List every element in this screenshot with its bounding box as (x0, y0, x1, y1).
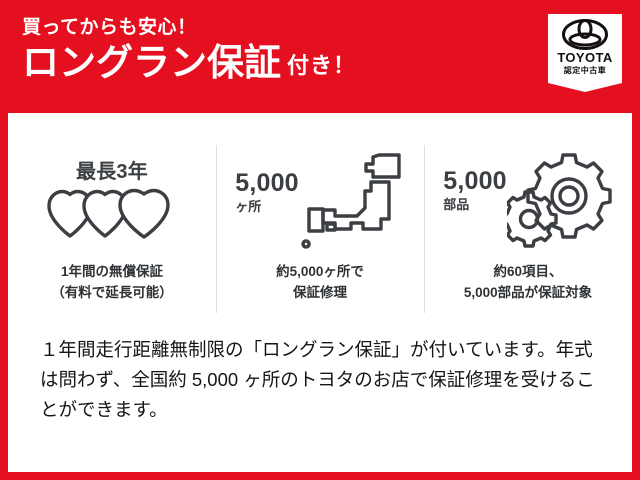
feature-caption-3: 約60項目、 5,000部品が保証対象 (464, 262, 592, 304)
feature-caption-line2-3: 5,000部品が保証対象 (464, 283, 592, 304)
two-gears-icon (507, 153, 613, 249)
feature-column-warranty-years: 最長3年 1年間の無償保証 （有料で延長可能） (8, 140, 216, 320)
feature-caption-line1-1: 1年間の無償保証 (51, 262, 173, 283)
headline-suffix-text: 付き！ (287, 53, 356, 78)
toyota-ellipse-emblem-icon (562, 19, 608, 50)
feature-caption-line1-2: 約5,000ヶ所で (276, 262, 364, 283)
feature-caption-line2-1: （有料で延長可能） (51, 283, 173, 304)
feature-icon-area-1: 最長3年 (8, 140, 216, 262)
header-text-block: 買ってからも安心！ ロングラン保証付き！ (22, 18, 356, 81)
frame-border-bottom (0, 472, 640, 480)
body-paragraph-block: １年間走行距離無制限の「ロングラン保証」が付いています。年式は問わず、全国約 5… (40, 335, 610, 425)
feature-caption-line1-3: 約60項目、 (464, 262, 592, 283)
feature-column-parts: 5,000 部品 (424, 140, 632, 320)
feature-stat-1: 最長3年 (76, 162, 148, 182)
feature-caption-2: 約5,000ヶ所で 保証修理 (276, 262, 364, 304)
feature-caption-1: 1年間の無償保証 （有料で延長可能） (51, 262, 173, 304)
three-hearts-icon (46, 188, 178, 240)
feature-stat-number-2: 5,000 (235, 171, 299, 196)
body-paragraph: １年間走行距離無制限の「ロングラン保証」が付いています。年式は問わず、全国約 5… (40, 335, 610, 425)
icon-cluster-2: 5,000 ヶ所 (235, 151, 405, 251)
header-headline: ロングラン保証付き！ (22, 44, 356, 81)
badge-content: TOYOTA 認定中古車 (548, 19, 622, 75)
feature-icon-area-2: 5,000 ヶ所 (216, 140, 424, 262)
header-banner: 買ってからも安心！ ロングラン保証付き！ TOYOTA 認定中古車 (0, 0, 640, 113)
feature-stat-3: 5,000 部品 (443, 169, 507, 211)
headline-main-text: ロングラン保証 (22, 42, 281, 83)
promo-banner: 買ってからも安心！ ロングラン保証付き！ TOYOTA 認定中古車 (0, 0, 640, 480)
feature-stat-unit-2: ヶ所 (235, 200, 299, 213)
feature-caption-line2-2: 保証修理 (276, 283, 364, 304)
toyota-wordmark: TOYOTA (557, 51, 612, 64)
feature-stat-2: 5,000 ヶ所 (235, 171, 299, 213)
feature-icon-area-3: 5,000 部品 (424, 140, 632, 262)
feature-stat-unit-3: 部品 (443, 198, 507, 211)
feature-stat-number-1: 最長3年 (76, 162, 148, 182)
feature-columns: 最長3年 1年間の無償保証 （有料で延長可能） (8, 140, 632, 320)
feature-stat-number-3: 5,000 (443, 169, 507, 194)
badge-chevron-icon (548, 81, 622, 97)
header-kicker: 買ってからも安心！ (22, 18, 356, 37)
toyota-certified-label: 認定中古車 (564, 67, 607, 75)
icon-cluster-3: 5,000 部品 (443, 153, 613, 249)
feature-column-locations: 5,000 ヶ所 (216, 140, 424, 320)
toyota-certified-badge: TOYOTA 認定中古車 (548, 14, 622, 97)
japan-map-icon (301, 151, 405, 251)
